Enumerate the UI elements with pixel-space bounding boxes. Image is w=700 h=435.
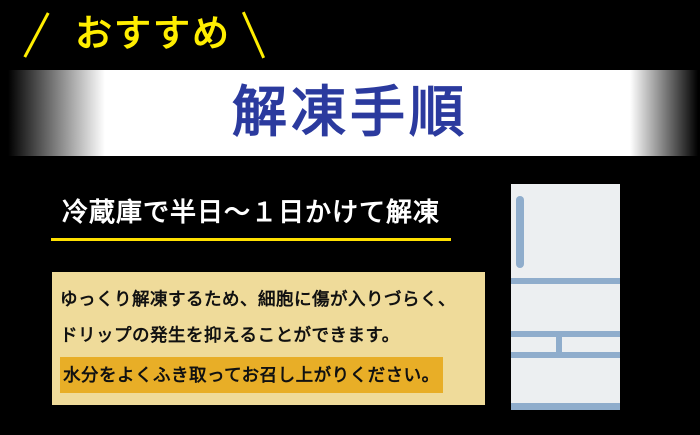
subheading: 冷蔵庫で半日〜１日かけて解凍: [50, 192, 452, 229]
page-title: 解凍手順: [0, 70, 700, 156]
left-slash-decoration: [23, 12, 49, 58]
badge-label: おすすめ: [68, 6, 238, 62]
right-slash-decoration: [242, 12, 265, 59]
promo-banner: おすすめ 解凍手順 冷蔵庫で半日〜１日かけて解凍 ゆっくり解凍するため、細胞に傷…: [0, 0, 700, 435]
refrigerator-handle: [516, 196, 524, 268]
refrigerator-base: [511, 403, 620, 410]
refrigerator-divider: [511, 278, 620, 284]
subheading-underline: [51, 238, 451, 241]
note-line: ゆっくり解凍するため、細胞に傷が入りづらく、: [60, 281, 485, 317]
refrigerator-vertical-divider: [556, 331, 562, 358]
recommendation-badge: おすすめ: [0, 0, 700, 68]
refrigerator-divider: [511, 331, 620, 337]
note-line-highlighted: 水分をよくふき取ってお召し上がりください。: [60, 357, 443, 393]
note-line: ドリップの発生を抑えることができます。: [60, 317, 485, 353]
refrigerator-icon: [511, 184, 620, 410]
note-box: ゆっくり解凍するため、細胞に傷が入りづらく、 ドリップの発生を抑えることができま…: [52, 272, 485, 405]
refrigerator-divider: [511, 352, 620, 358]
